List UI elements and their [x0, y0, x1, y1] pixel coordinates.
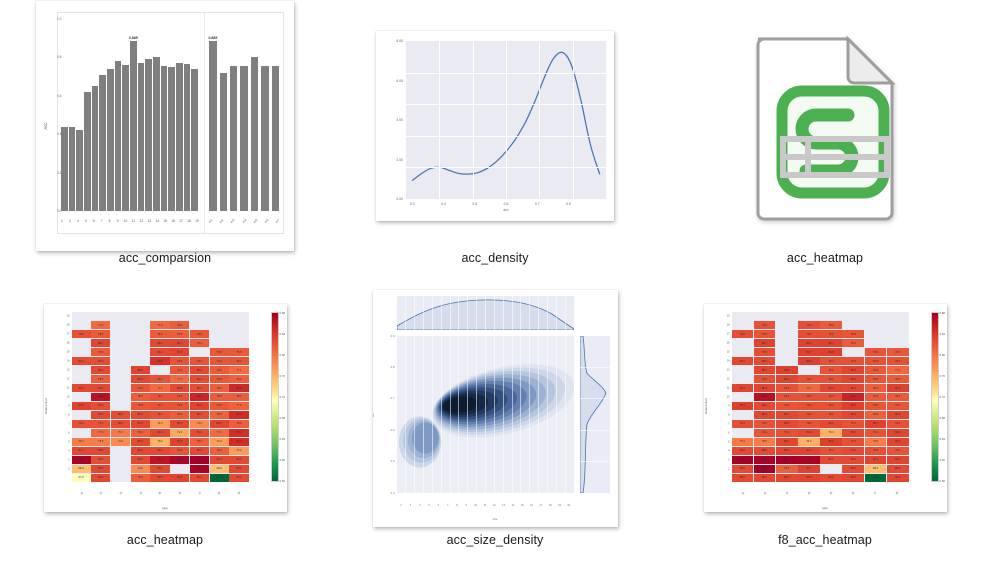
heatmap-cell	[72, 429, 91, 437]
heatmap-cell: 80.1	[190, 384, 209, 392]
heatmap-cell: 80.0	[842, 456, 864, 464]
heatmap-cell: 80.7	[820, 339, 842, 347]
heatmap-cell: 78.4	[170, 321, 189, 329]
heatmap-cell	[111, 330, 130, 338]
heatmap-cell: 79.4	[72, 420, 91, 428]
heatmap-ytick: 8	[728, 413, 729, 416]
heatmap-cell: 80.3	[887, 411, 909, 419]
heatmap-cell: 79.4	[170, 357, 189, 365]
heatmap-cell: 79.4	[150, 375, 169, 383]
thumbnail-grid: 1.00.80.60.40.20.0 0.885 234567891011121…	[0, 0, 990, 563]
heatmap-cell	[72, 393, 91, 401]
heatmap-ylabel: Feature Num	[44, 398, 48, 414]
colorbar-tick: 0.68	[940, 416, 945, 420]
joint-gridline	[503, 336, 504, 493]
heatmap-cell: 80.2	[776, 438, 798, 446]
heatmap-cell	[776, 330, 798, 338]
file-item-acc-comparsion[interactable]: 1.00.80.60.40.20.0 0.885 234567891011121…	[0, 0, 330, 282]
heatmap-ytick: 14	[727, 360, 730, 363]
density-ytick: 0.00	[396, 197, 403, 201]
joint-xtick: 5	[424, 504, 433, 507]
heatmap-ytick: 19	[727, 315, 730, 318]
heatmap-cell	[170, 312, 189, 320]
heatmap-cell	[72, 312, 91, 320]
bar-value-label: 0.885	[208, 36, 217, 40]
heatmap-cell: 78.9	[210, 348, 229, 356]
joint-xtick: 8	[452, 504, 461, 507]
heatmap-cell: 77.1	[887, 366, 909, 374]
joint-gridline	[458, 296, 459, 330]
density-xtick: 0.6	[504, 202, 509, 206]
bar-xtick: m6	[261, 216, 272, 227]
bar-xtick: 19	[193, 219, 201, 223]
heatmap-cell	[150, 312, 169, 320]
heatmap-cell: 79.4	[150, 393, 169, 401]
colorbar-tick: 0.88	[280, 311, 285, 315]
heatmap-ytick: 17	[67, 333, 70, 336]
joint-gridline	[503, 296, 504, 330]
heatmap-cell: 80.0	[190, 429, 209, 437]
joint-xtick: 20	[564, 504, 573, 507]
file-item-acc-heatmap[interactable]: 77.277.378.479.678.678.578.378.980.780.4…	[0, 282, 330, 563]
density-axes: 0.002.004.006.008.00 0.30.40.50.60.70.8 …	[406, 41, 606, 199]
joint-gridline	[529, 296, 530, 330]
heatmap-cell: 80.4	[150, 465, 169, 473]
heatmap-ytick: 3	[728, 458, 729, 461]
heatmap-cell: 79.0	[210, 402, 229, 410]
heatmap-cell	[131, 339, 150, 347]
heatmap-cell: 80.8	[776, 366, 798, 374]
joint-gridline	[414, 296, 415, 330]
heatmap-ytick: 5	[728, 440, 729, 443]
heatmap-ytick: 6	[68, 431, 69, 434]
density-gridline-x	[506, 41, 507, 199]
heatmap-cell: 79.0	[754, 420, 776, 428]
heatmap-cell	[732, 375, 754, 383]
heatmap-xtick-labels: t1t2t3t4t5t6t7t8t9	[72, 491, 249, 495]
heatmap-cell: 80.7	[91, 339, 110, 347]
file-item-acc-size-density[interactable]: 234567891011121314151617181920size0.90.8…	[330, 282, 660, 563]
heatmap-cell: 80.3	[754, 366, 776, 374]
heatmap-cell	[776, 339, 798, 347]
density-xtick: 0.7	[535, 202, 540, 206]
heatmap-cell: 79.4	[776, 393, 798, 401]
heatmap-cell	[798, 366, 820, 374]
joint-marginal-x	[397, 296, 574, 330]
heatmap-ytick: 15	[727, 351, 730, 354]
joint-gridline	[405, 336, 406, 493]
thumbnail-acc-size-density[interactable]: 234567891011121314151617181920size0.90.8…	[330, 282, 660, 530]
bar-xtick: 7	[98, 219, 106, 223]
heatmap-cell	[842, 348, 864, 356]
density-ytick: 6.00	[396, 79, 403, 83]
heatmap-cell: 78.3	[131, 474, 150, 482]
heatmap-cell: 79.2	[798, 375, 820, 383]
heatmap-cell: 78.2	[229, 375, 248, 383]
heatmap-cell: 80.4	[754, 384, 776, 392]
heatmap-cell: 80.3	[732, 384, 754, 392]
joint-gridline	[565, 296, 566, 330]
heatmap-cell: 80.0	[798, 429, 820, 437]
heatmap-cell	[210, 330, 229, 338]
joint-gridline	[467, 296, 468, 330]
heatmap-cell: 80.3	[170, 420, 189, 428]
heatmap-ytick: 12	[67, 378, 70, 381]
heatmap-cell: 88.5	[754, 465, 776, 473]
heatmap-cell	[131, 348, 150, 356]
heatmap-cell: 80.2	[776, 474, 798, 482]
bar	[220, 73, 227, 211]
heatmap-cell: 79.0	[754, 330, 776, 338]
thumbnail-acc-density[interactable]: 0.002.004.006.008.00 0.30.40.50.60.70.8 …	[330, 0, 660, 248]
heatmap-cell: 79.2	[776, 384, 798, 392]
heatmap-cell: 79.5	[754, 348, 776, 356]
heatmap-xtick: t1	[73, 485, 90, 501]
joint-gridline	[467, 336, 468, 493]
heatmap-cell	[732, 411, 754, 419]
heatmap-cell	[131, 312, 150, 320]
bar: 0.885	[130, 41, 137, 211]
heatmap-cell: 80.4	[229, 456, 248, 464]
density-xtick: 0.5	[472, 202, 477, 206]
density-xtick: 0.4	[441, 202, 446, 206]
heatmap-cell	[111, 393, 130, 401]
heatmap-cell: 77.3	[150, 321, 169, 329]
heatmap-cell: 83.4	[229, 411, 248, 419]
heatmap-cell	[776, 348, 798, 356]
heatmap-cell: 68.4	[865, 465, 887, 473]
heatmap-cell	[72, 348, 91, 356]
bar	[99, 75, 106, 211]
heatmap-cell: 80.2	[131, 438, 150, 446]
heatmap-cell: 77.1	[229, 366, 248, 374]
bar	[115, 61, 122, 211]
joint-xlabel: size	[373, 517, 618, 521]
heatmap-ytick: 10	[727, 396, 730, 399]
heatmap-cell	[111, 339, 130, 347]
heatmap-cell: 78.4	[865, 393, 887, 401]
heatmap-cell: 78.9	[865, 348, 887, 356]
heatmap-cell: 72.4	[229, 447, 248, 455]
heatmap-cell: 88.0	[798, 456, 820, 464]
heatmap-xtick-labels: t1t2t3t4t5t6t7t8	[732, 491, 909, 495]
heatmap-ytick: 17	[727, 333, 730, 336]
joint-gridline	[565, 336, 566, 493]
heatmap-cell	[131, 357, 150, 365]
bar-xtick: 9	[114, 219, 122, 223]
heatmap-cell	[229, 330, 248, 338]
bar-xtick: 14	[153, 219, 161, 223]
bar-xtick: 12	[137, 219, 145, 223]
bar	[251, 57, 258, 211]
heatmap-cell: 80.7	[798, 348, 820, 356]
bar	[138, 63, 145, 211]
colorbar-tick: 0.68	[280, 416, 285, 420]
colorbar-tick: 0.60	[280, 458, 285, 462]
heatmap-cell: 78.4	[210, 393, 229, 401]
heatmap-ytick: 16	[727, 342, 730, 345]
bar-group-left: 0.885	[58, 19, 201, 211]
heatmap-cell: 88.0	[170, 456, 189, 464]
heatmap-cell: 80.0	[91, 357, 110, 365]
joint-gridline	[432, 296, 433, 330]
heatmap-cell	[131, 321, 150, 329]
heatmap-cell: 80.7	[798, 465, 820, 473]
heatmap-xtick: t2	[92, 485, 109, 501]
bar	[61, 127, 68, 211]
heatmap-cell: 77.1	[150, 384, 169, 392]
heatmap-cell: 80.5	[842, 366, 864, 374]
bar-chart-ylabel: Acc	[43, 123, 48, 130]
thumbnail-acc-comparsion[interactable]: 1.00.80.60.40.20.0 0.885 234567891011121…	[0, 0, 330, 248]
heatmap-ytick: 14	[67, 360, 70, 363]
heatmap-cell: 80.4	[229, 465, 248, 473]
heatmap-cell: 80.4	[776, 447, 798, 455]
joint-gridline	[512, 296, 513, 330]
heatmap-grid: 79.279.578.479.679.079.579.278.980.780.6…	[732, 312, 909, 482]
density-gridline-y	[406, 104, 606, 105]
bar	[69, 127, 76, 211]
bar-group-right: 0.885	[205, 19, 283, 211]
heatmap-cell: 79.9	[842, 447, 864, 455]
heatmap-cell: 79.3	[820, 402, 842, 410]
bar-xtick: m2	[217, 216, 228, 227]
heatmap-cell: 75.4	[732, 438, 754, 446]
heatmap-cell: 79.3	[842, 357, 864, 365]
joint-figure: 234567891011121314151617181920size0.90.8…	[373, 290, 618, 527]
colorbar-tick: 0.64	[280, 437, 285, 441]
heatmap-cell	[887, 339, 909, 347]
bar-xtick: 2	[58, 219, 66, 223]
heatmap-cell: 78.9	[842, 330, 864, 338]
heatmap-cell: 78.2	[190, 438, 209, 446]
bar	[191, 69, 198, 211]
bar-xtick: 16	[169, 219, 177, 223]
joint-ylabel: acc	[373, 413, 375, 417]
heatmap-cell: 78.4	[91, 375, 110, 383]
heatmap-cell: 80.2	[754, 474, 776, 482]
bar: 0.885	[209, 41, 216, 211]
joint-gridline	[450, 296, 451, 330]
file-item-f8-acc-heatmap[interactable]: 79.279.578.479.679.079.579.278.980.780.6…	[660, 282, 990, 563]
heatmap-cell: 80.2	[190, 411, 209, 419]
heatmap-cell: 80.7	[210, 420, 229, 428]
thumbnail-f8-acc-heatmap[interactable]: 79.279.578.479.679.079.579.278.980.780.6…	[660, 282, 990, 530]
heatmap-colorbar: 0.880.840.800.760.720.680.640.600.56	[271, 312, 279, 482]
colorbar-tick: 0.76	[940, 374, 945, 378]
heatmap-cell: 78.6	[91, 348, 110, 356]
heatmap-cell: 78.9	[210, 375, 229, 383]
heatmap-cell: 78.4	[887, 375, 909, 383]
heatmap-ytick: 4	[68, 449, 69, 452]
density-ytick: 2.00	[396, 158, 403, 162]
heatmap-figure-2: 79.279.578.479.679.079.579.278.980.780.6…	[704, 304, 947, 512]
heatmap-cell: 80.4	[72, 447, 91, 455]
heatmap-cell: 79.4	[754, 375, 776, 383]
heatmap-cell: 80.0	[776, 420, 798, 428]
joint-gridline	[512, 336, 513, 493]
heatmap-cell: 79.4	[150, 402, 169, 410]
heatmap-cell: 75.7	[111, 429, 130, 437]
heatmap-ytick: 2	[68, 467, 69, 470]
bar	[92, 86, 99, 211]
heatmap-cell: 80.5	[91, 465, 110, 473]
bar	[84, 92, 91, 211]
heatmap-cell: 79.4	[798, 411, 820, 419]
heatmap-cell: 79.4	[732, 420, 754, 428]
heatmap-cell: 80.3	[842, 474, 864, 482]
heatmap-cell: 80.3	[229, 474, 248, 482]
heatmap-cell	[210, 312, 229, 320]
heatmap-ytick: 16	[67, 342, 70, 345]
heatmap-cell: 78.3	[210, 447, 229, 455]
heatmap-cell	[131, 330, 150, 338]
heatmap-cell: 80.4	[887, 438, 909, 446]
heatmap-cell: 79.2	[820, 411, 842, 419]
heatmap-cell: 78.4	[229, 393, 248, 401]
heatmap-grid: 77.277.378.479.678.678.578.378.980.780.4…	[72, 312, 249, 482]
heatmap-xlabel: type	[704, 506, 947, 510]
heatmap-cell: 80.4	[131, 447, 150, 455]
heatmap-cell: 80.0	[887, 465, 909, 473]
density-gridline-y	[406, 167, 606, 168]
heatmap-cell: 80.9	[170, 438, 189, 446]
heatmap-cell: 80.0	[754, 402, 776, 410]
heatmap-cell: 78.4	[170, 411, 189, 419]
heatmap-cell	[887, 321, 909, 329]
heatmap-cell	[111, 312, 130, 320]
heatmap-cell: 57.9	[72, 474, 91, 482]
heatmap-cell: 79.4	[798, 393, 820, 401]
bar	[261, 66, 268, 211]
heatmap-cell: 80.0	[91, 456, 110, 464]
joint-gridline	[494, 296, 495, 330]
joint-gridline	[432, 336, 433, 493]
heatmap-cell	[732, 348, 754, 356]
heatmap-ytick: 12	[727, 378, 730, 381]
heatmap-cell: 77.1	[210, 429, 229, 437]
heatmap-cell: 83.8	[229, 384, 248, 392]
joint-gridline	[529, 336, 530, 493]
heatmap-cell: 80.5	[91, 474, 110, 482]
heatmap-xtick: t5	[822, 484, 841, 502]
heatmap-cell: 75.2	[91, 438, 110, 446]
thumbnail-acc-heatmap[interactable]: 77.277.378.479.678.678.578.378.980.780.4…	[0, 282, 330, 530]
joint-gridline	[494, 336, 495, 493]
bar	[122, 65, 129, 211]
heatmap-ytick: 19	[67, 315, 70, 318]
heatmap-cell: 88.4	[72, 456, 91, 464]
bar-xtick: 4	[74, 219, 82, 223]
heatmap-cell	[776, 321, 798, 329]
joint-ytick: 0.6	[391, 428, 395, 432]
heatmap-cell: 80.0	[754, 357, 776, 365]
heatmap-ytick: 9	[68, 404, 69, 407]
joint-gridline	[520, 296, 521, 330]
heatmap-cell: 80.4	[210, 456, 229, 464]
heatmap-cell: 75.0	[754, 438, 776, 446]
file-item-acc-density[interactable]: 0.002.004.006.008.00 0.30.40.50.60.70.8 …	[330, 0, 660, 282]
heatmap-cell: 78.1	[210, 384, 229, 392]
heatmap-cell: 80.9	[190, 402, 209, 410]
bar-xtick: 8	[106, 219, 114, 223]
heatmap-cell: 79.1	[170, 366, 189, 374]
bar	[161, 66, 168, 211]
file-caption: acc_comparsion	[119, 251, 211, 265]
heatmap-cell	[732, 393, 754, 401]
joint-gridline	[547, 336, 548, 493]
colorbar-tick: 0.72	[280, 395, 285, 399]
joint-gridline	[423, 296, 424, 330]
thumbnail-spreadsheet-file[interactable]	[660, 0, 990, 248]
heatmap-ytick: 2	[728, 467, 729, 470]
joint-gridline	[476, 296, 477, 330]
heatmap-cell: 88.4	[732, 456, 754, 464]
heatmap-cell: 80.4	[865, 456, 887, 464]
heatmap-ytick: 9	[728, 404, 729, 407]
heatmap-cell: 79.4	[820, 393, 842, 401]
joint-gridline	[450, 336, 451, 493]
joint-xtick: 7	[443, 504, 452, 507]
density-xtick: 0.8	[566, 202, 571, 206]
heatmap-cell	[190, 321, 209, 329]
heatmap-ytick: 7	[68, 422, 69, 425]
heatmap-cell: 80.5	[190, 366, 209, 374]
bar-xtick: 11	[129, 219, 137, 223]
heatmap-cell	[820, 465, 842, 473]
heatmap-cell: 79.2	[210, 357, 229, 365]
heatmap-preview-2: 79.279.578.479.679.079.579.278.980.780.6…	[704, 304, 947, 512]
heatmap-cell: 28.5	[865, 474, 887, 482]
heatmap-xtick: t9	[230, 485, 247, 501]
joint-xtick: 13	[499, 504, 508, 507]
joint-ytick: 0.7	[391, 396, 395, 400]
heatmap-ytick: 7	[728, 422, 729, 425]
heatmap-cell: 68.4	[72, 465, 91, 473]
bar	[168, 67, 175, 211]
heatmap-cell: 79.2	[754, 321, 776, 329]
heatmap-cell: 71.4	[170, 429, 189, 437]
joint-gridline	[414, 336, 415, 493]
heatmap-cell: 79.4	[820, 447, 842, 455]
heatmap-xtick: t4	[799, 484, 818, 502]
file-item-acc-heatmap-csv[interactable]: acc_heatmap	[660, 0, 990, 282]
heatmap-cell	[72, 366, 91, 374]
heatmap-cell: 80.0	[820, 474, 842, 482]
density-gridline-x	[573, 41, 574, 199]
heatmap-cell	[776, 312, 798, 320]
heatmap-cell: 80.8	[170, 474, 189, 482]
heatmap-cell: 79.3	[842, 438, 864, 446]
heatmap-xtick: t5	[151, 485, 168, 501]
joint-xtick: 11	[480, 504, 489, 507]
heatmap-cell: 78.6	[865, 366, 887, 374]
heatmap-cell: 72.4	[150, 420, 169, 428]
heatmap-xlabel: type	[44, 506, 287, 510]
heatmap-cell: 86.5	[754, 393, 776, 401]
heatmap-cell: 79.3	[190, 357, 209, 365]
heatmap-cell	[210, 321, 229, 329]
heatmap-cell: 80.4	[150, 429, 169, 437]
bar-value-label: 0.885	[129, 36, 138, 40]
heatmap-cell: 80.3	[842, 411, 864, 419]
heatmap-cell: 80.3	[190, 474, 209, 482]
bar	[272, 66, 279, 211]
heatmap-cell: 79.2	[865, 357, 887, 365]
heatmap-cell: 79.2	[887, 420, 909, 428]
density-plot-preview: 0.002.004.006.008.00 0.30.40.50.60.70.8 …	[376, 31, 614, 221]
heatmap-cell: 78.6	[887, 348, 909, 356]
